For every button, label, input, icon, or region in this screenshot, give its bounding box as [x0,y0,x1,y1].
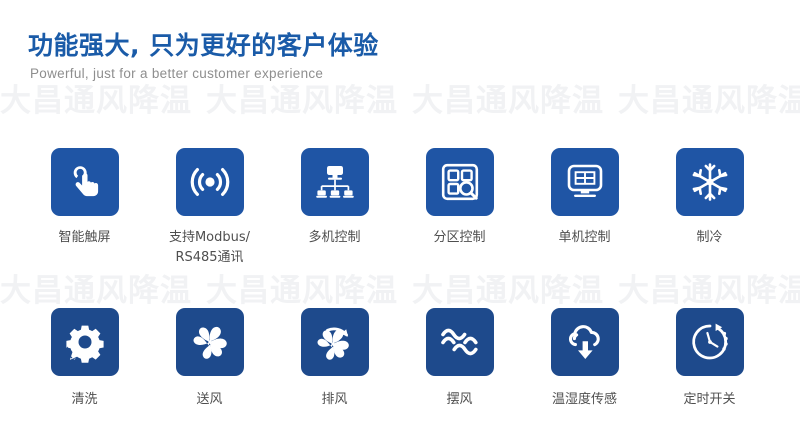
feature-label: 分区控制 [433,228,485,248]
feature-label: 温湿度传感 [552,390,617,410]
watermark-text: 大昌通风降温 [0,276,192,307]
feature-tile [301,308,369,376]
feature-item-supply-air[interactable]: 送风 [147,308,272,410]
page-title: 功能强大, 只为更好的客户体验 [28,30,379,61]
snowflake-icon [689,161,731,203]
feature-item-cooling[interactable]: 制冷 [647,148,772,267]
feature-row-1: 智能触屏 支持Modbus/ RS485通讯 [22,148,782,267]
watermark-row: 大昌通风降温 大昌通风降温 大昌通风降温 大昌通风降温 [0,276,800,307]
feature-item-single-unit-control[interactable]: 单机控制 [522,148,647,267]
feature-item-swing-air[interactable]: 摆风 [397,308,522,410]
feature-label: 支持Modbus/ RS485通讯 [169,228,250,267]
feature-tile [551,148,619,216]
single-unit-panel-icon [564,161,606,203]
feature-label: 单机控制 [558,228,610,248]
feature-tile [676,308,744,376]
feature-tile [51,308,119,376]
timer-clock-icon [689,321,731,363]
watermark-row: 大昌通风降温 大昌通风降温 大昌通风降温 大昌通风降温 [0,86,800,117]
feature-label: 清洗 [71,390,97,410]
feature-item-touch-screen[interactable]: 智能触屏 [22,148,147,267]
feature-row-2: 清洗 送风 [22,308,782,410]
multi-unit-network-icon [314,162,356,202]
feature-item-zone-control[interactable]: 分区控制 [397,148,522,267]
feature-tile [301,148,369,216]
feature-item-exhaust-air[interactable]: 排风 [272,308,397,410]
feature-item-modbus-rs485[interactable]: 支持Modbus/ RS485通讯 [147,148,272,267]
feature-tile [51,148,119,216]
watermark-text: 大昌通风降温 [206,276,398,307]
feature-item-multi-unit-control[interactable]: 多机控制 [272,148,397,267]
feature-tile [176,148,244,216]
fan-exhaust-air-icon [313,321,357,363]
feature-label: 摆风 [446,390,472,410]
feature-tile [551,308,619,376]
gear-brush-clean-icon [64,321,106,363]
cloud-arrow-down-sensor-icon [564,321,606,363]
feature-label: 定时开关 [683,390,735,410]
feature-label: 制冷 [696,228,722,248]
feature-label: 智能触屏 [58,228,110,248]
zone-grid-search-icon [439,161,481,203]
feature-tile [676,148,744,216]
watermark-text: 大昌通风降温 [412,276,604,307]
feature-item-temp-humidity-sensor[interactable]: 温湿度传感 [522,308,647,410]
watermark-text: 大昌通风降温 [206,86,398,117]
header: 功能强大, 只为更好的客户体验 Powerful, just for a bet… [28,30,379,81]
watermark-text: 大昌通风降温 [618,86,800,117]
watermark-text: 大昌通风降温 [412,86,604,117]
feature-label: 排风 [321,390,347,410]
feature-tile [176,308,244,376]
feature-showcase-page: 大昌通风降温 大昌通风降温 大昌通风降温 大昌通风降温 大昌通风降温 大昌通风降… [0,0,800,441]
feature-label: 多机控制 [308,228,360,248]
feature-item-clean[interactable]: 清洗 [22,308,147,410]
watermark-text: 大昌通风降温 [618,276,800,307]
feature-label: 送风 [196,390,222,410]
page-subtitle: Powerful, just for a better customer exp… [30,66,379,81]
wireless-signal-icon [188,162,232,202]
feature-tile [426,148,494,216]
watermark-text: 大昌通风降温 [0,86,192,117]
feature-tile [426,308,494,376]
fan-supply-air-icon [189,321,231,363]
feature-item-timer-switch[interactable]: 定时开关 [647,308,772,410]
swing-wave-icon [438,322,482,362]
touch-screen-icon [65,162,105,202]
